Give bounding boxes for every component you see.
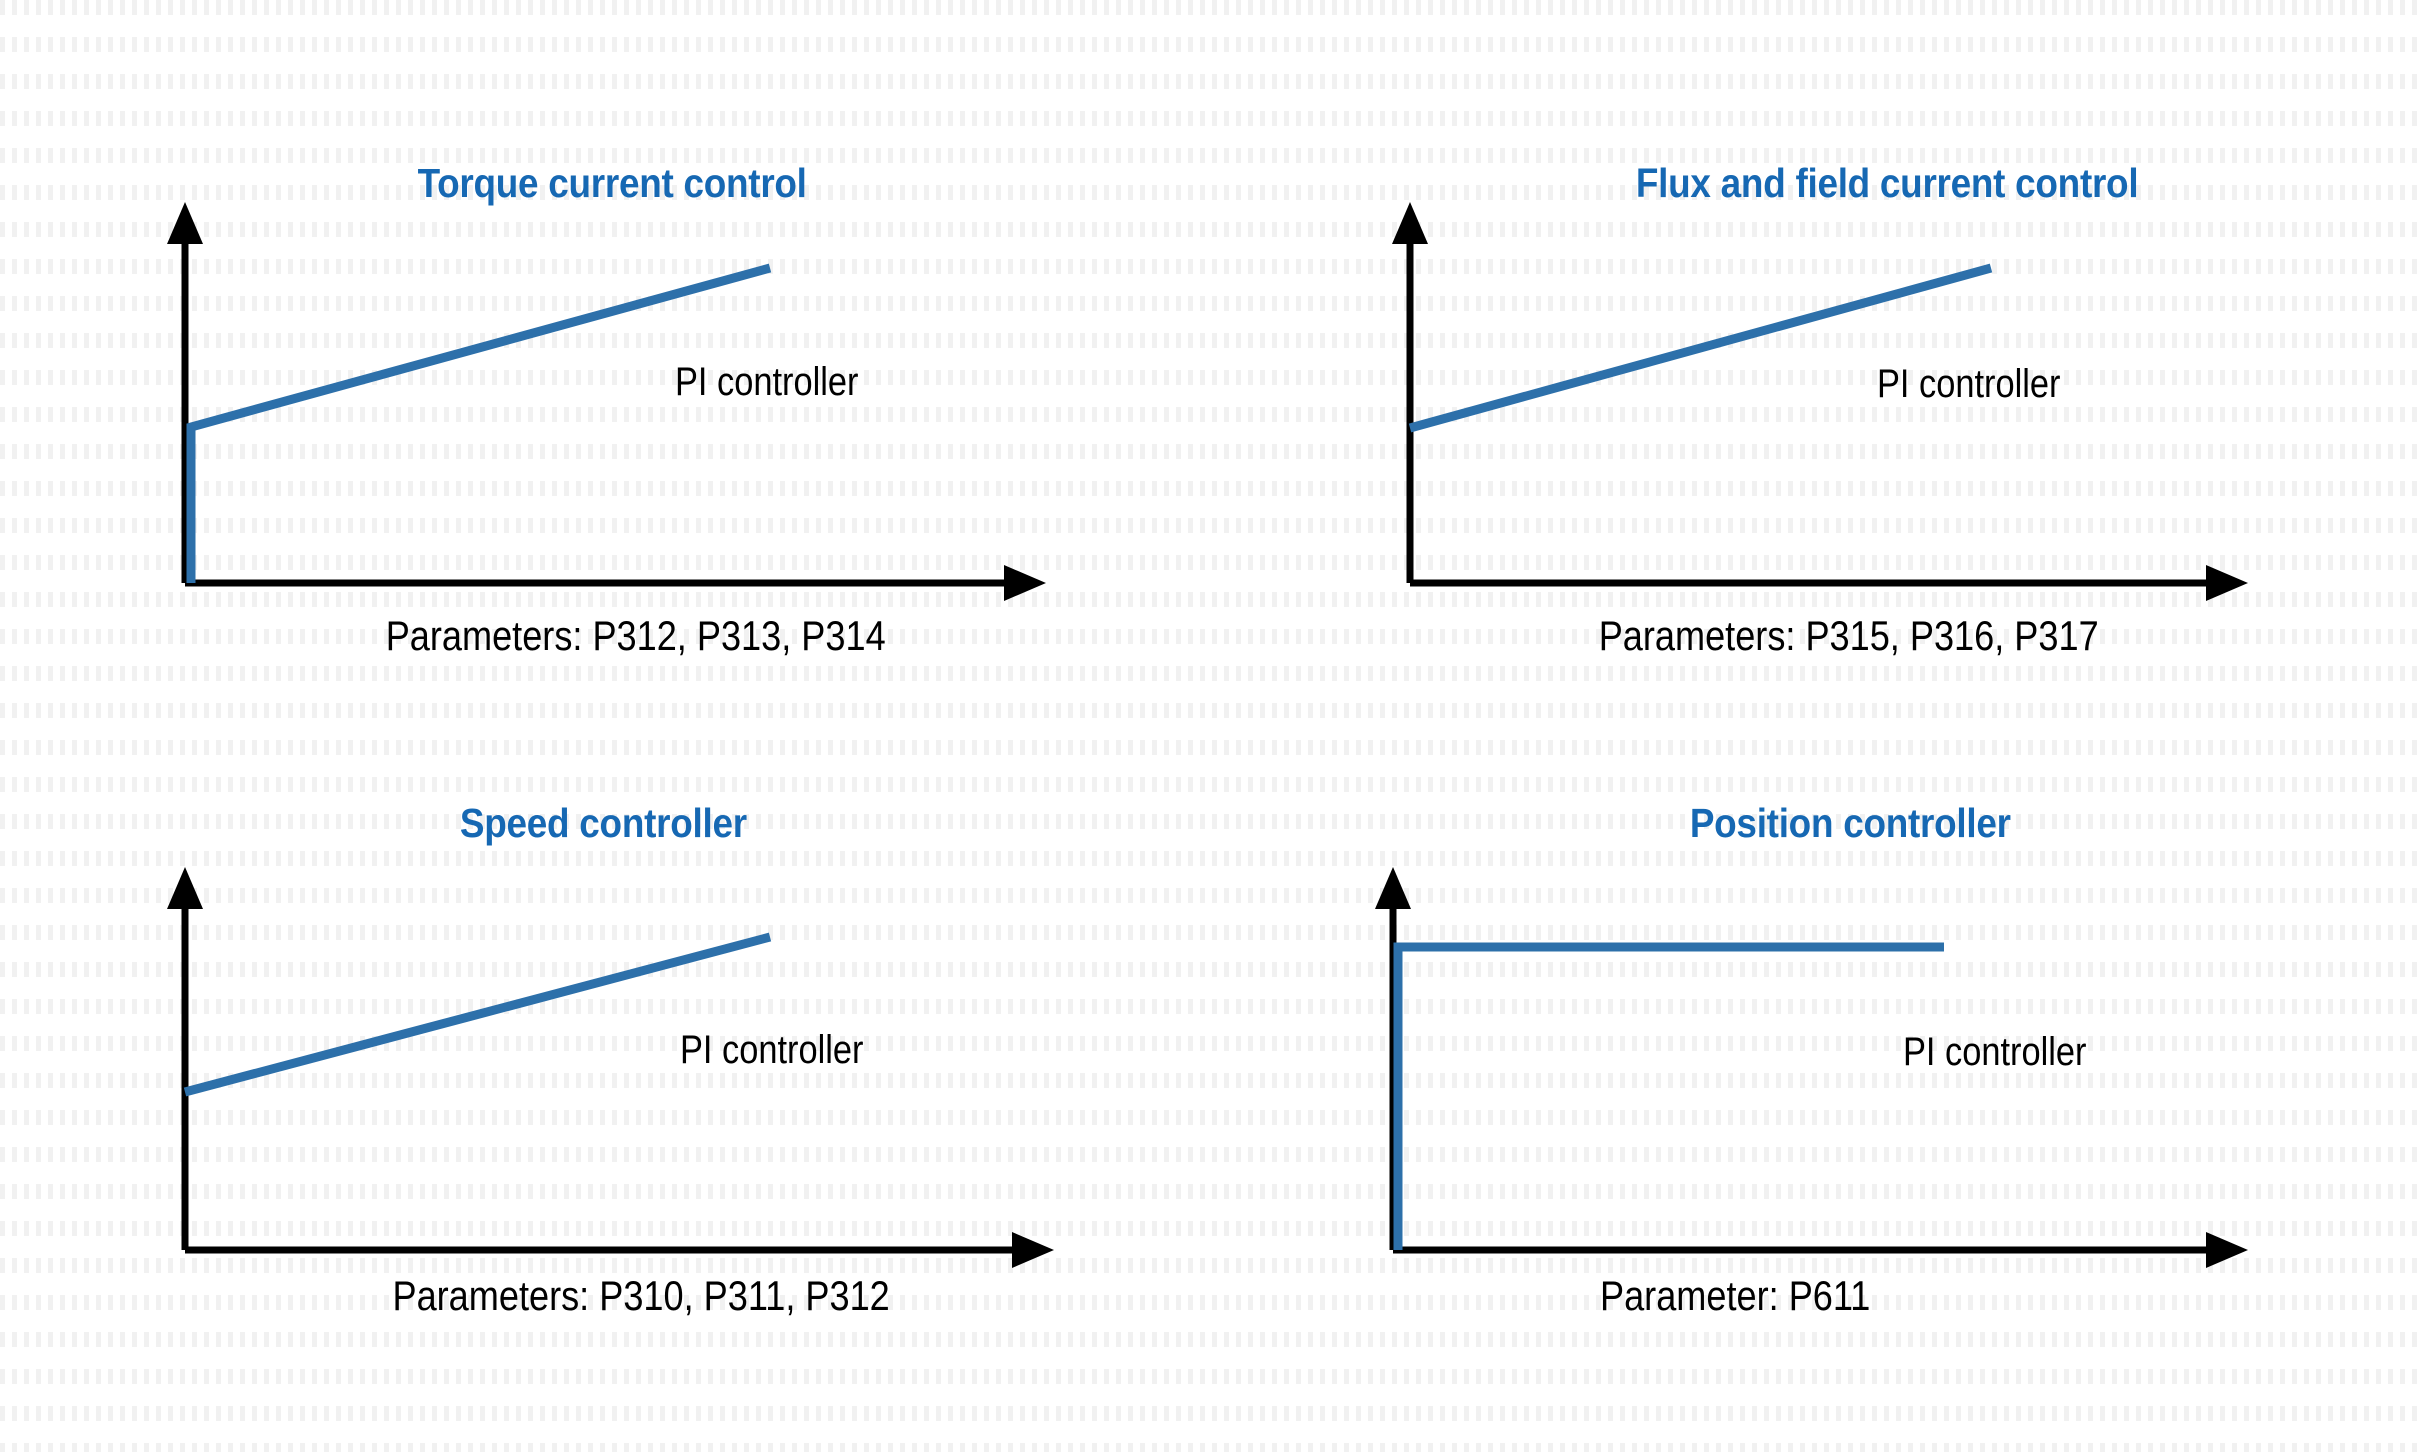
footer-parameters-position: Parameter: P611 [1600, 1272, 1870, 1320]
figure-canvas: Torque current control PI controller Par… [0, 0, 2420, 1452]
annotation-pi-controller-position: PI controller [1903, 1030, 2087, 1075]
curve-position-pi [1398, 947, 1944, 1250]
axes-position [0, 0, 2420, 1452]
x-axis-arrowhead-position [2206, 1232, 2248, 1268]
y-axis-arrowhead-position [1375, 867, 1411, 909]
